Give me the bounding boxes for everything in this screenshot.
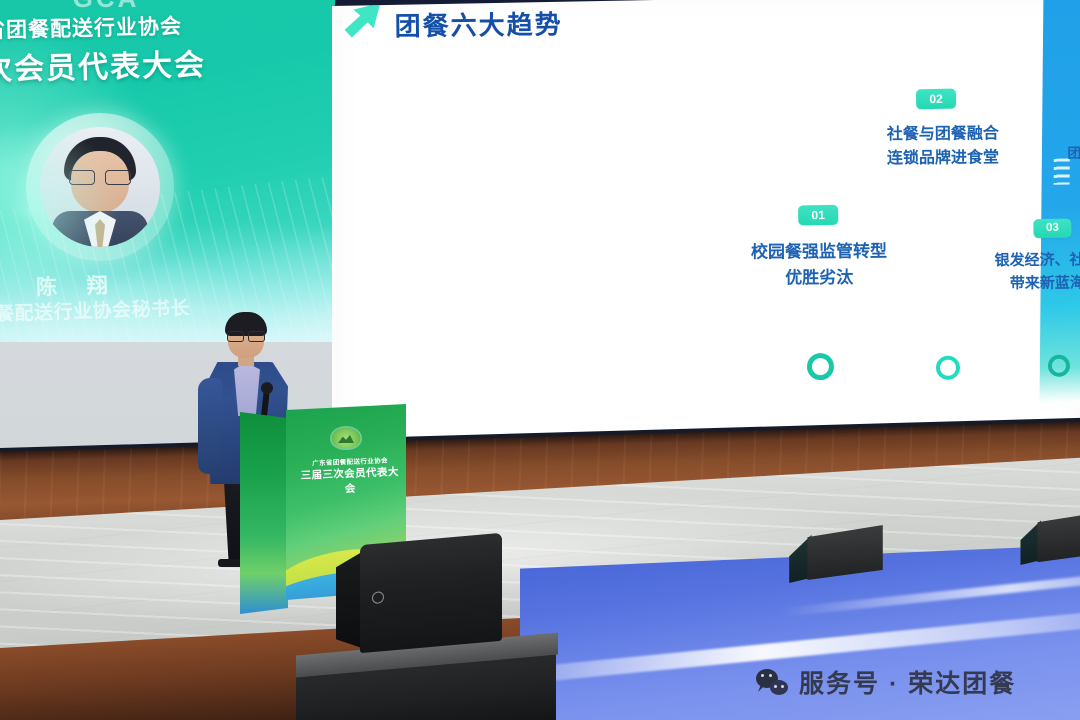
watermark-text: 服务号 · 荣达团餐: [799, 664, 1016, 700]
trend-text: 团餐品质与效率双提升是 破卷之道: [1062, 143, 1080, 185]
avatar-photo: [40, 127, 160, 247]
timeline-dot-icon: [936, 356, 960, 380]
trend-number-badge: 02: [916, 89, 956, 110]
conference-stage-photo: GCA 东省团餐配送行业协会 三次会员代表大会 陈 翔 省团餐配送行业协会秘书长…: [0, 0, 1080, 720]
trend-text: 社餐与团餐融合 连锁品牌进食堂: [863, 122, 1023, 171]
floor-monitor-speaker: [789, 525, 883, 583]
main-presentation-screen: 团餐六大趋势 01 校园餐强监管转型 优胜劣汰 02 社餐与团餐融合 连锁品牌进…: [332, 0, 1080, 454]
speaker-avatar: [26, 113, 174, 261]
trend-number-badge: 03: [1033, 218, 1071, 238]
left-screen-event-line: 三次会员代表大会: [0, 38, 270, 89]
slide-accent-bar: [1040, 0, 1080, 403]
mountain-logo-icon: [332, 428, 360, 448]
podium-side-panel: [240, 412, 288, 614]
trend-text: 校园餐强监管转型 优胜劣汰: [729, 238, 909, 290]
arrow-up-right-icon: [340, 0, 385, 40]
slide-content: 团餐六大趋势 01 校园餐强监管转型 优胜劣汰 02 社餐与团餐融合 连锁品牌进…: [332, 0, 1080, 454]
stage-monitor-speaker: [336, 533, 502, 656]
slide-title: 团餐六大趋势: [394, 4, 562, 43]
glasses-icon: [227, 331, 265, 340]
wechat-icon: [756, 669, 788, 695]
timeline-dot-icon: [807, 353, 834, 380]
podium-event-line: 三届三次会员代表大会: [295, 464, 404, 498]
floor-monitor-speaker: [1020, 511, 1080, 565]
watermark: 服务号 · 荣达团餐: [756, 664, 1016, 700]
left-led-screen: GCA 东省团餐配送行业协会 三次会员代表大会 陈 翔 省团餐配送行业协会秘书长: [0, 0, 335, 342]
trend-text: 银发经济、社区经济 带来新蓝海市场: [982, 249, 1080, 295]
trend-number-badge: 01: [798, 205, 838, 226]
